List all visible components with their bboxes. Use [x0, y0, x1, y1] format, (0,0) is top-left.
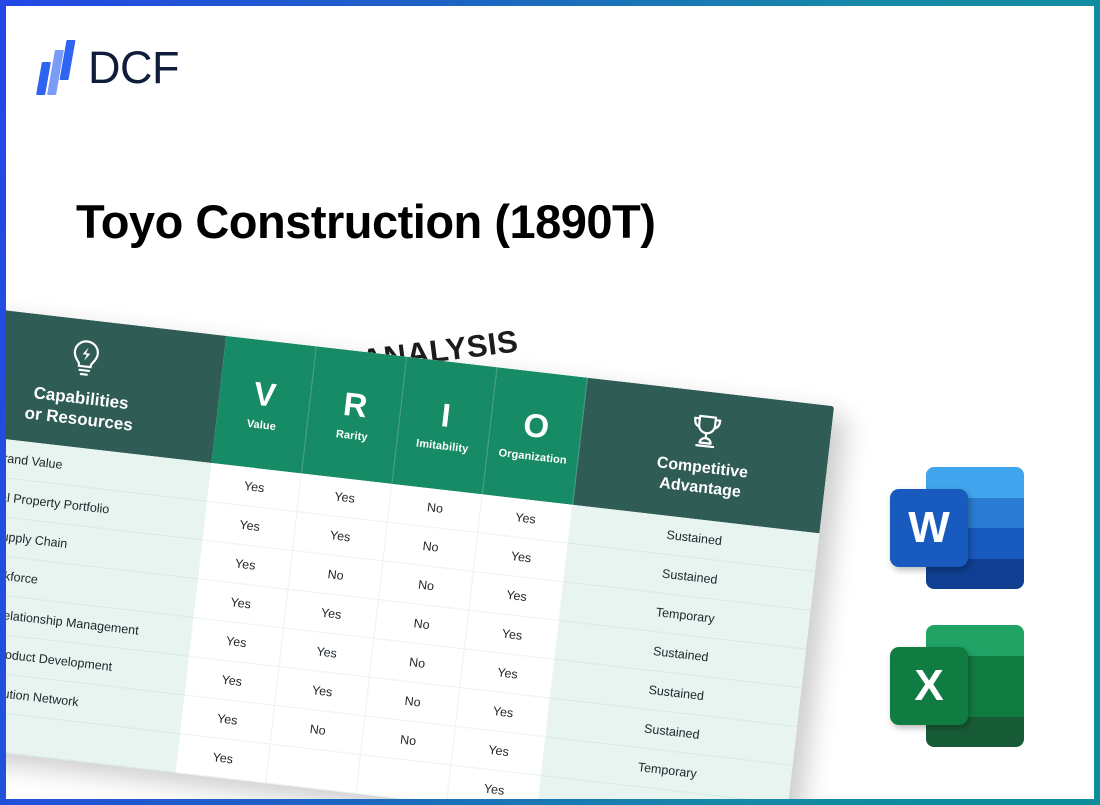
- page-frame: DCF Toyo Construction (1890T) VRIO ANALY…: [0, 0, 1100, 805]
- column-letter-v: V: [218, 373, 311, 416]
- word-badge-letter: W: [890, 489, 968, 567]
- column-header-rarity: R Rarity: [302, 346, 407, 484]
- capabilities-label: Capabilities or Resources: [6, 372, 219, 446]
- vrio-table-stage: Capabilities or Resources V Value R Rari: [6, 304, 834, 799]
- column-sub-rarity: Rarity: [306, 425, 397, 447]
- microsoft-word-icon[interactable]: W: [890, 461, 1024, 595]
- microsoft-excel-icon[interactable]: X: [890, 619, 1024, 753]
- column-sub-value: Value: [216, 414, 307, 436]
- advantage-label: Competitive Advantage: [576, 444, 827, 512]
- vrio-table: Capabilities or Resources V Value R Rari: [6, 304, 834, 799]
- column-header-capabilities: Capabilities or Resources: [6, 304, 226, 463]
- vrio-table-card: Capabilities or Resources V Value R Rari: [6, 304, 834, 799]
- column-header-imitability: I Imitability: [392, 357, 497, 495]
- download-icons: W X: [890, 461, 1024, 753]
- logo-wordmark: DCF: [88, 45, 179, 90]
- column-header-value: V Value: [212, 336, 317, 474]
- brand-logo[interactable]: DCF: [38, 36, 179, 98]
- column-sub-imitability: Imitability: [397, 435, 488, 457]
- column-letter-i: I: [399, 394, 492, 437]
- trophy-icon: [684, 411, 728, 453]
- column-header-organization: O Organization: [482, 367, 587, 505]
- column-sub-organization: Organization: [487, 446, 578, 468]
- page-canvas: DCF Toyo Construction (1890T) VRIO ANALY…: [6, 6, 1094, 799]
- bar-chart-logo-icon: [38, 38, 78, 96]
- column-letter-r: R: [309, 383, 402, 426]
- logo-bar-3: [59, 40, 75, 80]
- page-title: Toyo Construction (1890T): [76, 194, 655, 249]
- column-letter-o: O: [490, 404, 583, 447]
- lightbulb-icon: [65, 336, 106, 382]
- excel-badge-letter: X: [890, 647, 968, 725]
